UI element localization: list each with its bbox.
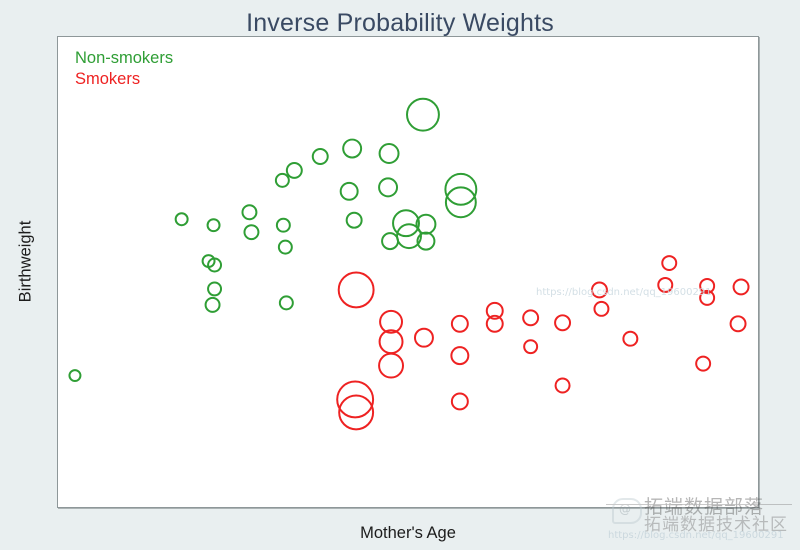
chart-figure: Inverse Probability Weights Non-smokers … xyxy=(0,0,800,550)
data-point xyxy=(445,174,476,205)
data-point xyxy=(208,282,221,295)
data-point xyxy=(382,233,398,249)
data-point xyxy=(379,178,397,196)
data-point xyxy=(415,329,433,347)
data-point xyxy=(555,315,570,330)
plot-area: Non-smokers Smokers https://blog.csdn.ne… xyxy=(57,36,759,508)
data-point xyxy=(208,219,220,231)
data-point xyxy=(341,183,358,200)
data-point xyxy=(662,256,676,270)
series-smokers xyxy=(337,256,758,429)
data-point xyxy=(523,310,538,325)
data-point xyxy=(407,99,439,131)
data-point xyxy=(696,357,710,371)
data-point xyxy=(339,272,374,307)
data-point xyxy=(313,149,328,164)
data-point xyxy=(176,213,188,225)
data-point xyxy=(277,219,290,232)
data-point xyxy=(452,393,468,409)
data-point xyxy=(347,213,362,228)
data-point xyxy=(242,205,256,219)
data-point xyxy=(446,187,476,217)
x-axis-label: Mother's Age xyxy=(57,524,759,543)
data-point xyxy=(206,298,220,312)
scatter-plot-canvas xyxy=(58,37,758,507)
data-point xyxy=(380,144,399,163)
data-point xyxy=(731,316,746,331)
page-title: Inverse Probability Weights xyxy=(0,9,800,38)
data-point xyxy=(524,340,537,353)
legend-item-smokers: Smokers xyxy=(75,70,140,89)
data-point xyxy=(280,296,293,309)
data-point xyxy=(452,316,468,332)
data-point xyxy=(69,370,80,381)
y-axis-label: Birthweight xyxy=(17,172,36,352)
data-point xyxy=(244,225,258,239)
data-point xyxy=(279,241,292,254)
data-point xyxy=(556,379,570,393)
data-point xyxy=(592,282,607,297)
data-point xyxy=(451,347,468,364)
data-point xyxy=(379,354,403,378)
data-point xyxy=(287,163,302,178)
legend-item-non-smokers: Non-smokers xyxy=(75,49,173,68)
data-point xyxy=(276,174,289,187)
data-point xyxy=(734,279,749,294)
data-point xyxy=(594,302,608,316)
data-point xyxy=(658,278,672,292)
data-point xyxy=(623,332,637,346)
data-point xyxy=(343,140,361,158)
